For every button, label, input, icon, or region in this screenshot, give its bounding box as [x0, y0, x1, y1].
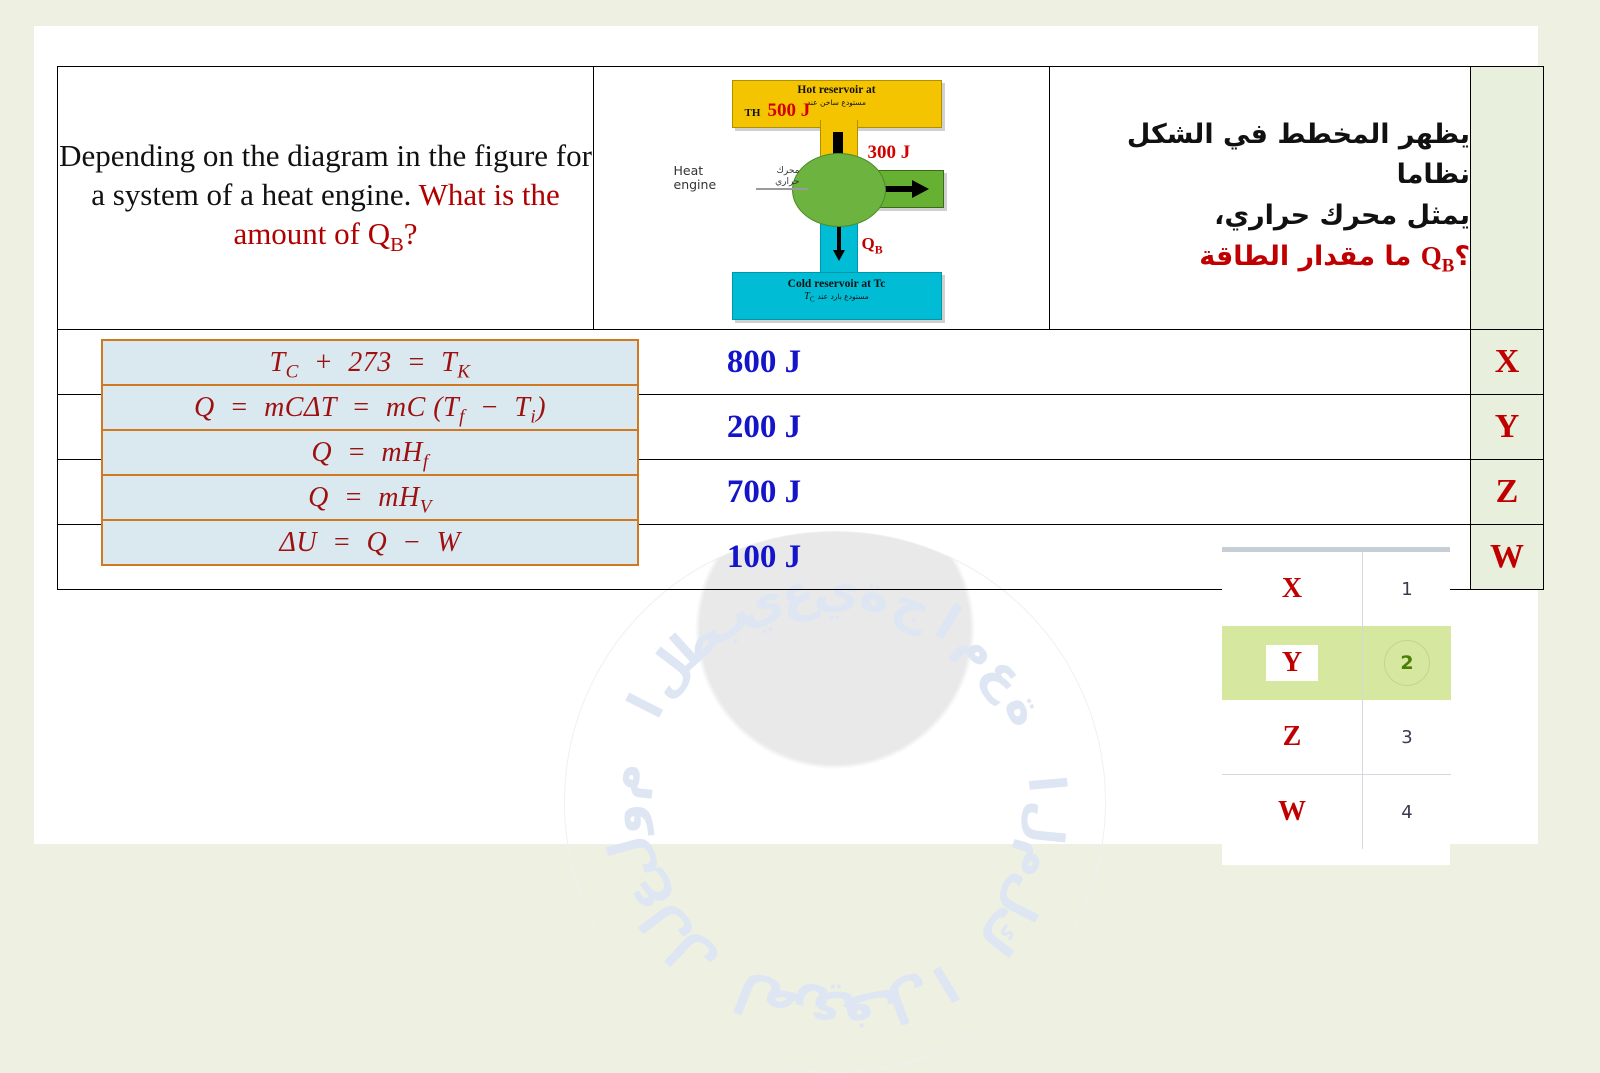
qb-figure-label: QB — [862, 234, 883, 257]
question-english-sub: B — [390, 234, 404, 256]
poll-option-3[interactable]: W — [1222, 775, 1363, 850]
poll-count-0: 1 — [1363, 552, 1452, 626]
question-arabic-cell: يظهر المخطط في الشكل نظاما يمثل محرك حرا… — [1050, 67, 1471, 330]
answer-key-1[interactable]: Y — [1471, 395, 1544, 460]
slide-surface: جامعةالملكالفيصلللعلومالطبيعية Depending… — [34, 26, 1538, 844]
energy-in-label: 500 J — [768, 100, 811, 122]
heat-engine-figure-cell: Hot reservoir at مستودع ساخن عند TH 500 … — [594, 67, 1050, 330]
engine-label-ar: محرك حراري — [756, 166, 800, 189]
cold-reservoir-label-ar: مستودع بارد عند — [817, 292, 868, 301]
question-arabic-line3: ؟QB ما مقدار الطاقة — [1050, 236, 1470, 281]
formula-row-3: Q = mHV — [103, 476, 637, 521]
poll-row-0[interactable]: X 1 — [1222, 552, 1451, 626]
poll-option-1[interactable]: Y — [1222, 626, 1363, 700]
poll-option-2[interactable]: Z — [1222, 700, 1363, 775]
question-english-cell: Depending on the diagram in the figure f… — [58, 67, 594, 330]
poll-count-3: 4 — [1363, 775, 1452, 850]
cold-reservoir-bar: Cold reservoir at Tc TC مستودع بارد عند — [732, 272, 942, 320]
formula-box: TC + 273 = TK Q = mCΔT = mC (Tf − Ti) Q … — [101, 339, 639, 566]
work-output-label: 300 J — [868, 142, 911, 164]
poll-count-2: 3 — [1363, 700, 1452, 775]
question-arabic-line2: يمثل محرك حراري، — [1050, 196, 1470, 237]
question-arabic-qb: QB — [1421, 241, 1455, 271]
answer-key-3[interactable]: W — [1471, 525, 1544, 590]
answer-key-0[interactable]: X — [1471, 330, 1544, 395]
hot-reservoir-th-label: TH — [745, 107, 761, 119]
hot-reservoir-label-en: Hot reservoir at — [797, 84, 875, 96]
hot-reservoir-label: Hot reservoir at مستودع ساخن عند — [733, 84, 941, 108]
poll-widget[interactable]: X 1 Y 2 Z 3 W 4 — [1222, 547, 1450, 865]
question-english-qmark: ? — [404, 216, 418, 251]
heat-engine-diagram: Hot reservoir at مستودع ساخن عند TH 500 … — [672, 74, 972, 322]
poll-table: X 1 Y 2 Z 3 W 4 — [1222, 552, 1451, 849]
engine-label-en: Heat engine — [674, 164, 758, 193]
answer-key-2[interactable]: Z — [1471, 460, 1544, 525]
poll-option-0[interactable]: X — [1222, 552, 1363, 626]
engine-leader-line — [756, 188, 808, 190]
engine-circle — [792, 153, 886, 227]
poll-row-1[interactable]: Y 2 — [1222, 626, 1451, 700]
poll-row-3[interactable]: W 4 — [1222, 775, 1451, 850]
question-english-highlight2: amount of QB? — [233, 216, 417, 251]
cold-reservoir-label-en: Cold reservoir at Tc — [788, 278, 886, 290]
poll-count-1: 2 — [1363, 626, 1452, 700]
formula-row-2: Q = mHf — [103, 431, 637, 476]
watermark-ring-text: جامعةالملكالفيصلللعلومالطبيعية — [565, 532, 1105, 1072]
heat-out-arrow-icon — [832, 226, 846, 262]
watermark-seal: جامعةالملكالفيصلللعلومالطبيعية — [564, 531, 1106, 1073]
poll-row-2[interactable]: Z 3 — [1222, 700, 1451, 775]
cold-reservoir-label: Cold reservoir at Tc TC مستودع بارد عند — [733, 278, 941, 304]
question-english-highlight1: What is the — [419, 177, 560, 212]
formula-row-1: Q = mCΔT = mC (Tf − Ti) — [103, 386, 637, 431]
formula-row-4: ΔU = Q − W — [103, 521, 637, 564]
hot-reservoir-label-ar: مستودع ساخن عند — [807, 98, 866, 107]
formula-row-0: TC + 273 = TK — [103, 341, 637, 386]
question-arabic-line1: يظهر المخطط في الشكل نظاما — [1050, 115, 1470, 196]
key-column-header — [1471, 67, 1544, 330]
question-row: Depending on the diagram in the figure f… — [58, 67, 1544, 330]
